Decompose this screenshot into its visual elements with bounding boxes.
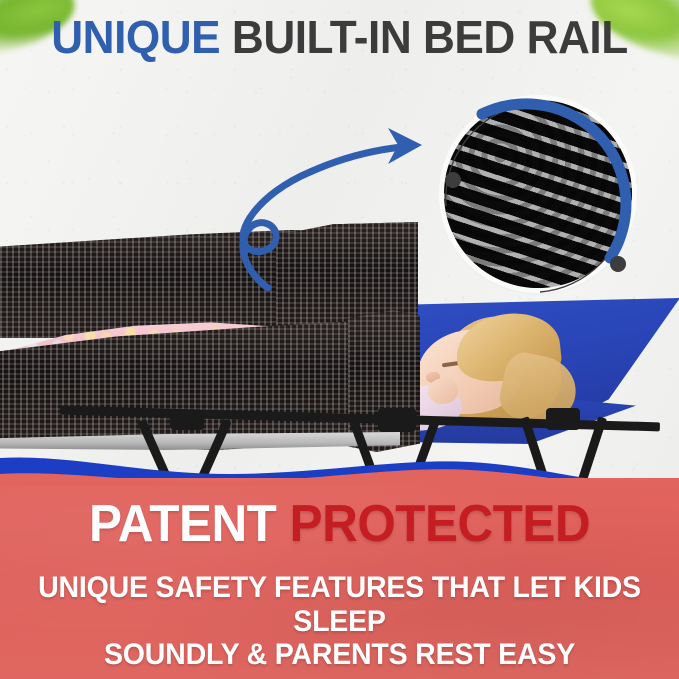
product-feature-poster: UNIQUE BUILT-IN BED RAIL (0, 0, 679, 679)
callout-dot-upper-left (445, 172, 461, 188)
headline-rest: BUILT-IN BED RAIL (232, 11, 628, 63)
patent-protected-banner: PATENT PROTECTED UNIQUE SAFETY FEATURES … (0, 478, 679, 679)
banner-title-part2: PROTECTED (290, 495, 590, 553)
headline-highlight: UNIQUE (51, 11, 220, 63)
banner-title: PATENT PROTECTED (17, 498, 662, 550)
callout-thin-arc-left (446, 110, 506, 206)
callout-rings (432, 88, 644, 300)
banner-wave-shape (0, 469, 679, 486)
curved-loop-arrow-icon (150, 120, 440, 305)
banner-subtitle-line2: SOUNDLY & PARENTS REST EASY (17, 638, 662, 672)
callout-dot-lower-right (610, 256, 626, 272)
page-title: UNIQUE BUILT-IN BED RAIL (14, 14, 666, 60)
mesh-zoom-callout (432, 88, 644, 300)
banner-title-part1: PATENT (89, 495, 276, 553)
banner-top-wave (0, 452, 679, 486)
banner-subtitle: UNIQUE SAFETY FEATURES THAT LET KIDS SLE… (17, 571, 662, 672)
arrow-path (243, 146, 412, 288)
callout-blue-arc (482, 104, 626, 258)
banner-subtitle-line1: UNIQUE SAFETY FEATURES THAT LET KIDS SLE… (17, 571, 662, 638)
